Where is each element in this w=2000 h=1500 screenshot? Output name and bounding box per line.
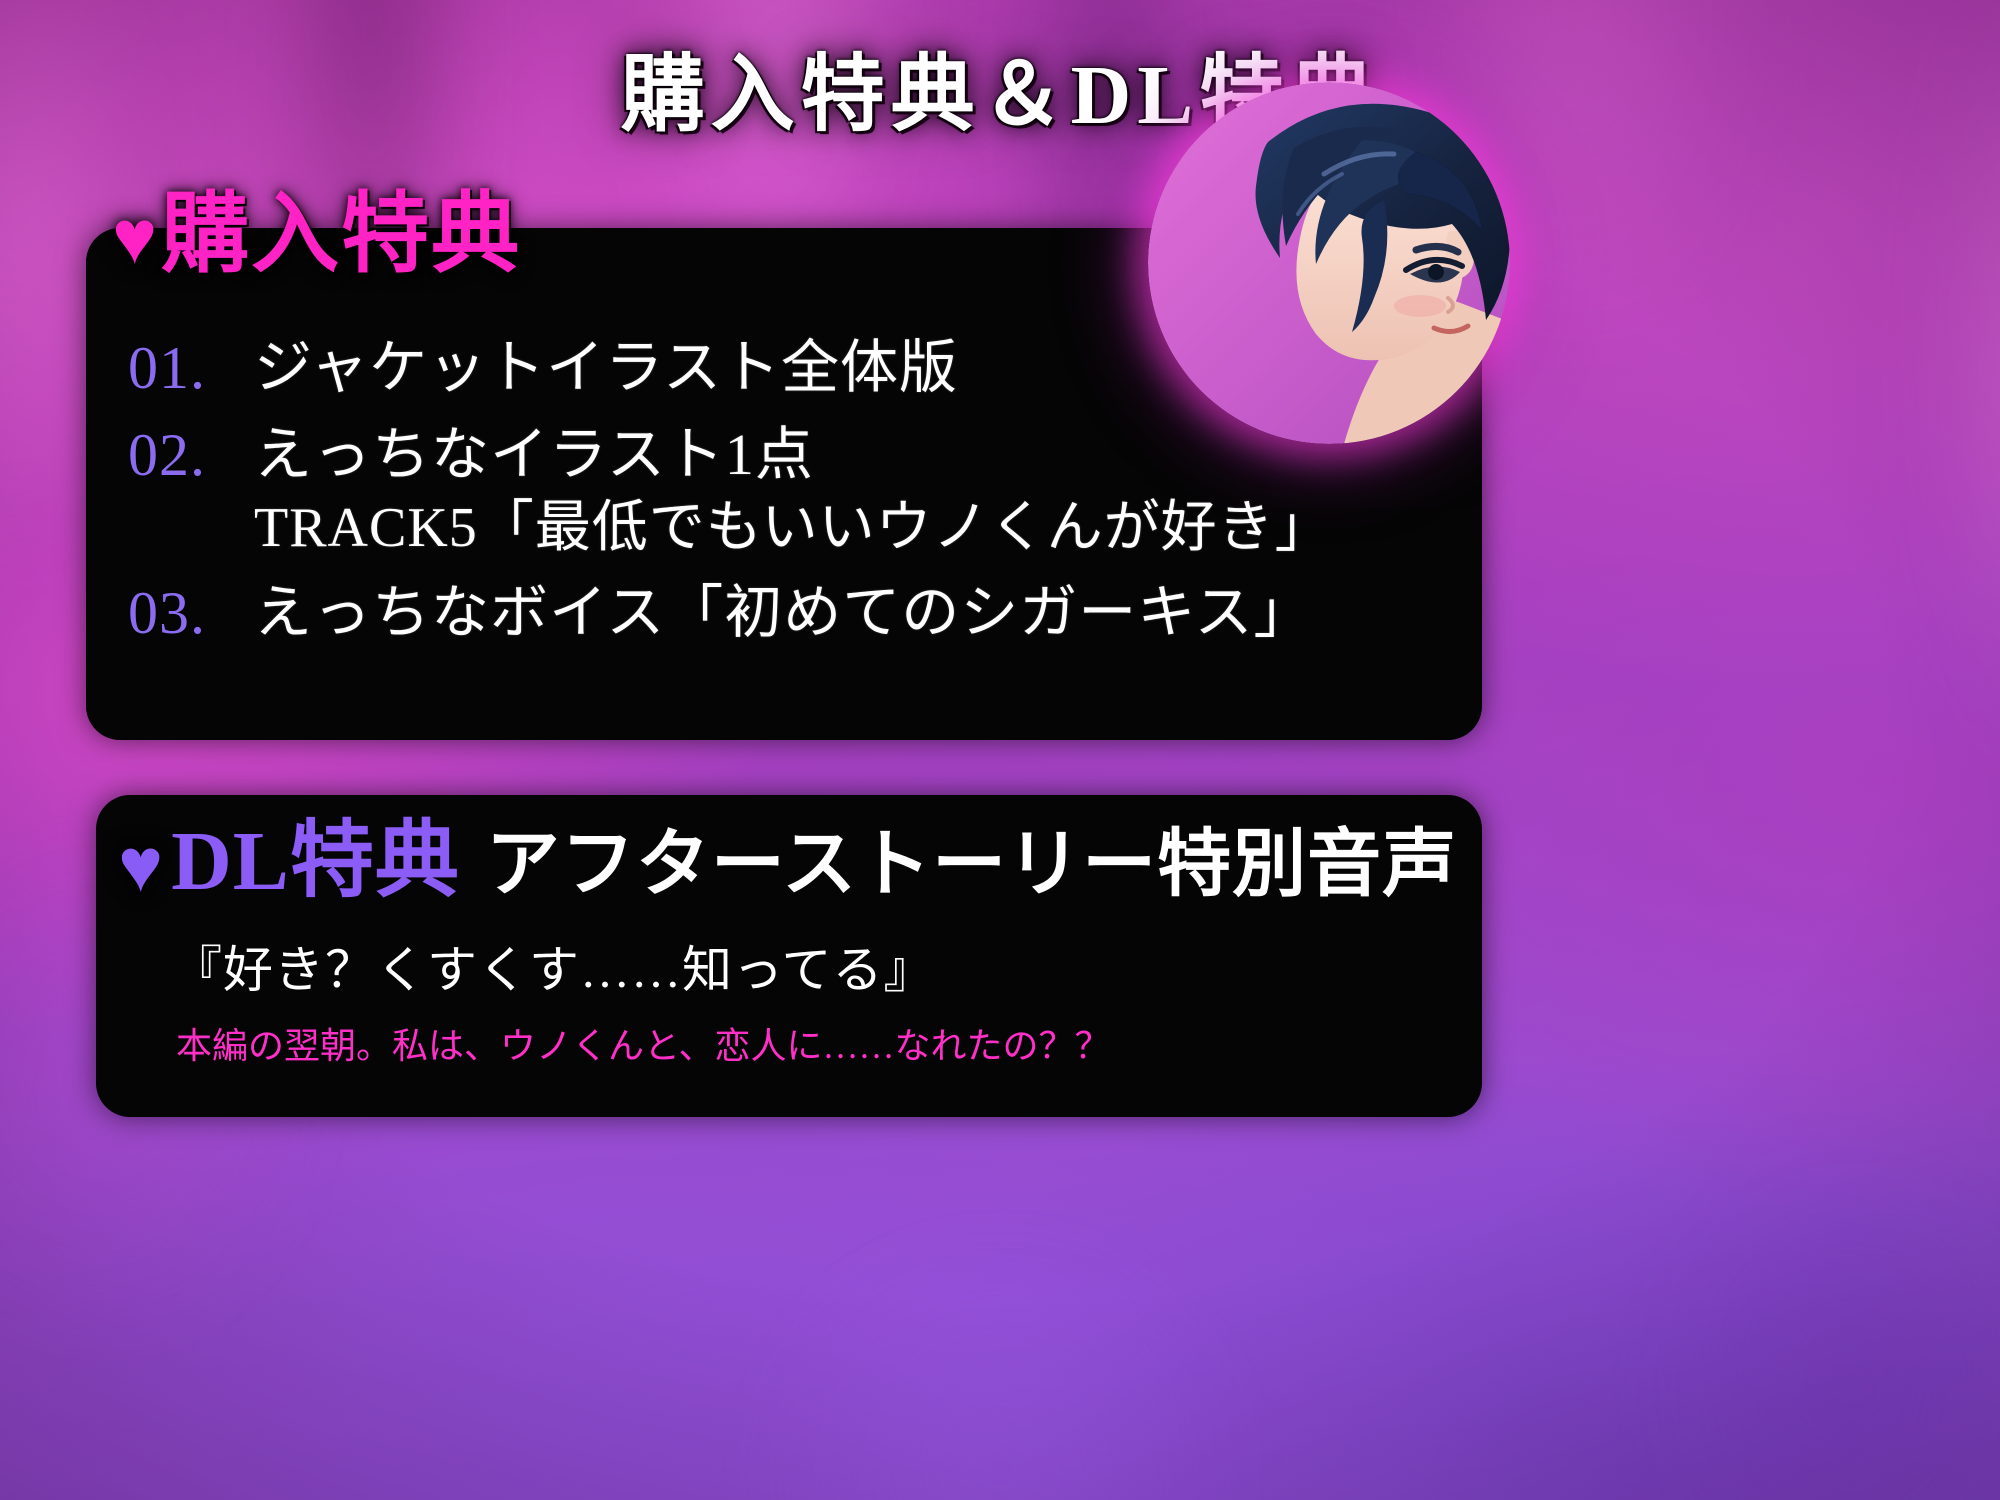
list-item-number: 01. [128,330,254,407]
list-item-subtext: TRACK5「最低でもいいウノくんが好き」 [254,492,1458,565]
dl-note-text: 本編の翌朝。私は、ウノくんと、恋人に……なれたの？？ [176,1025,1111,1068]
heart-icon: ♥ [118,828,163,904]
dl-heading: ♥ DL特典 アフターストーリー特別音声 [118,820,1457,904]
list-item-number: 02. [128,417,254,494]
page-title: 購入特典＆DL特典 [0,52,2000,140]
poster-root: 購入特典＆DL特典 [0,0,2000,1500]
list-item-number: 03. [128,575,254,652]
list-item-text: えっちなボイス「初めてのシガーキス」 [254,575,1458,650]
purchase-heading-text: 購入特典 [161,192,521,280]
dl-heading-text: DL特典 [171,820,460,904]
list-item: 03. えっちなボイス「初めてのシガーキス」 [128,575,1458,652]
dl-subheading-text: アフターストーリー特別音声 [486,828,1457,902]
heart-icon: ♥ [112,200,157,276]
list-item: 02. えっちなイラスト1点 TRACK5「最低でもいいウノくんが好き」 [128,417,1458,565]
purchase-heading: ♥ 購入特典 [112,192,521,280]
dl-quote-text: 『好き？くすくす……知ってる』 [172,940,935,1000]
character-portrait [1148,82,1510,444]
